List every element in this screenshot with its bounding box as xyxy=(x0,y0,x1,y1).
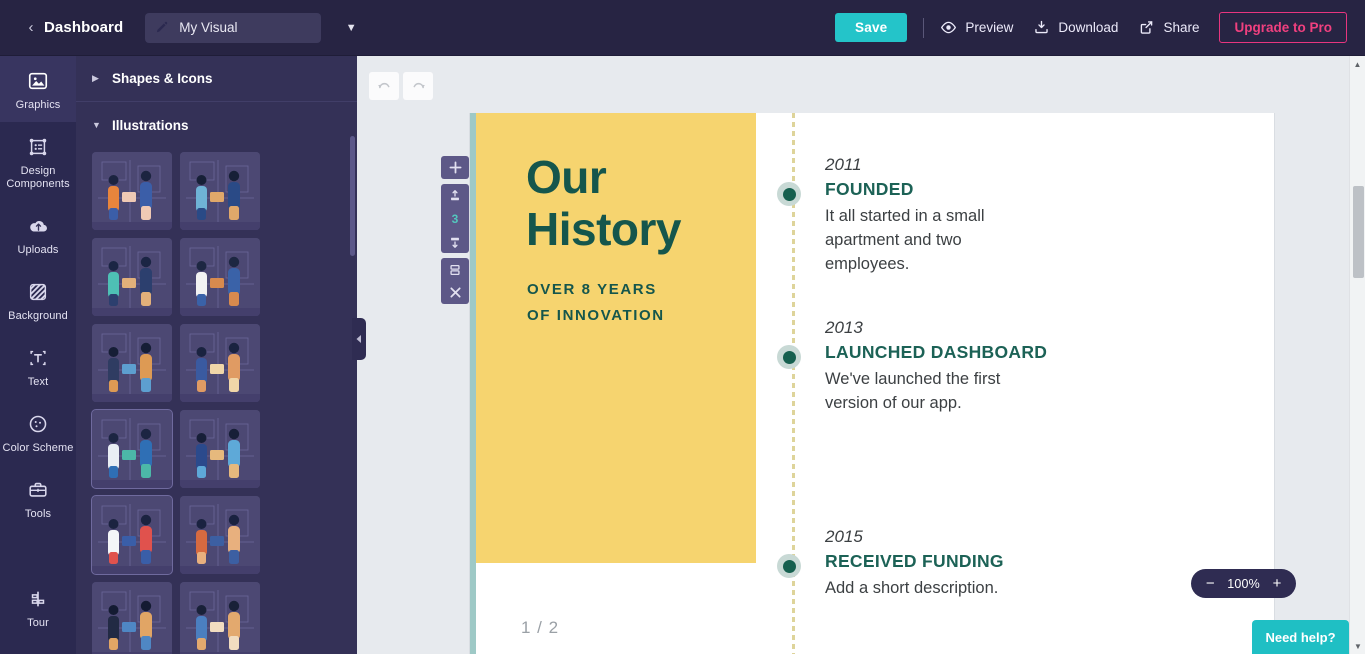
panel-collapse-button[interactable] xyxy=(352,318,366,360)
share-icon xyxy=(1138,19,1155,36)
panel-section-shapes-icons[interactable]: ▶ Shapes & Icons xyxy=(76,56,357,102)
sidebar-item-label: Uploads xyxy=(2,244,74,257)
timeline-dot-icon xyxy=(777,182,801,206)
share-label: Share xyxy=(1163,20,1199,35)
sidebar-item-label: Background xyxy=(2,310,74,323)
page-indicator: 1 / 2 xyxy=(521,618,559,638)
tour-icon xyxy=(2,586,74,612)
design-canvas[interactable]: Our History OVER 8 YEARS OF INNOVATION 1… xyxy=(470,113,1274,654)
panel-section-label: Shapes & Icons xyxy=(112,71,213,86)
page-scrollbar[interactable]: ▲ ▼ xyxy=(1349,56,1365,654)
download-button[interactable]: Download xyxy=(1033,19,1118,36)
timeline-heading: LAUNCHED DASHBOARD xyxy=(825,340,1245,365)
top-bar: ‹ Dashboard My Visual ▼ Save Preview xyxy=(0,0,1365,56)
sidebar-item-label: Graphics xyxy=(2,99,74,112)
sidebar-item-label: Design Components xyxy=(2,165,74,191)
sidebar-item-label: Color Scheme xyxy=(2,442,74,455)
hero-subtitle[interactable]: OVER 8 YEARS OF INNOVATION xyxy=(527,277,747,329)
preview-button[interactable]: Preview xyxy=(940,19,1013,36)
caret-down-icon[interactable]: ▼ xyxy=(1350,638,1365,654)
timeline-description: It all started in a small apartment and … xyxy=(825,204,1030,276)
timeline-event[interactable]: 2015RECEIVED FUNDINGAdd a short descript… xyxy=(825,525,1245,600)
asset-panel: ▶ Shapes & Icons ▼ Illustrations xyxy=(76,56,357,654)
hero-panel[interactable]: Our History OVER 8 YEARS OF INNOVATION xyxy=(476,113,756,563)
color-palette-icon xyxy=(2,411,74,437)
toolbar-divider xyxy=(923,18,924,38)
design-title-value: My Visual xyxy=(179,20,237,35)
sidebar-item-graphics[interactable]: Graphics xyxy=(0,56,76,122)
background-pattern-icon xyxy=(2,279,74,305)
text-box-icon xyxy=(2,345,74,371)
layer-count-display: 3 xyxy=(441,207,469,230)
left-rail: Graphics Design Components xyxy=(0,56,76,654)
illustration-thumbnail[interactable] xyxy=(92,410,172,488)
zoom-out-button[interactable]: − xyxy=(1203,575,1217,592)
illustration-thumbnail[interactable] xyxy=(180,324,260,402)
upload-cloud-icon xyxy=(2,213,74,239)
hero-title[interactable]: Our History xyxy=(526,151,756,255)
zoom-in-button[interactable]: + xyxy=(1270,575,1284,592)
sidebar-item-text[interactable]: Text xyxy=(0,333,76,399)
save-button[interactable]: Save xyxy=(835,13,907,42)
redo-button[interactable] xyxy=(403,72,433,100)
move-up-icon xyxy=(448,189,462,203)
illustration-thumbnail[interactable] xyxy=(180,582,260,654)
pencil-icon xyxy=(155,21,169,35)
triangle-right-icon: ▶ xyxy=(92,73,106,84)
timeline-heading: FOUNDED xyxy=(825,177,1245,202)
sidebar-item-tour[interactable]: Tour xyxy=(0,574,76,640)
move-down-button[interactable] xyxy=(441,230,469,253)
redo-icon xyxy=(411,80,426,93)
sidebar-item-label: Tour xyxy=(2,617,74,630)
timeline-description: We've launched the first version of our … xyxy=(825,367,1055,415)
undo-icon xyxy=(377,80,392,93)
add-page-button[interactable] xyxy=(441,156,469,179)
zoom-control: − 100% + xyxy=(1191,569,1296,598)
timeline-dot-icon xyxy=(777,554,801,578)
hero-subtitle-line1: OVER 8 YEARS xyxy=(527,277,747,303)
illustration-thumbnail[interactable] xyxy=(180,238,260,316)
panel-section-label: Illustrations xyxy=(112,118,189,133)
close-x-icon xyxy=(449,286,462,299)
move-down-icon xyxy=(448,235,462,249)
sidebar-item-color-scheme[interactable]: Color Scheme xyxy=(0,399,76,465)
timeline-event[interactable]: 2013LAUNCHED DASHBOARDWe've launched the… xyxy=(825,316,1245,415)
editor-canvas-area: 3 xyxy=(357,56,1365,654)
need-help-button[interactable]: Need help? xyxy=(1252,620,1349,654)
move-up-button[interactable] xyxy=(441,184,469,207)
timeline-description: Add a short description. xyxy=(825,576,1245,600)
illustration-grid xyxy=(76,148,357,654)
preview-label: Preview xyxy=(965,20,1013,35)
design-title-input[interactable]: My Visual xyxy=(145,13,321,43)
illustration-thumbnail[interactable] xyxy=(92,582,172,654)
components-icon xyxy=(2,134,74,160)
sidebar-item-background[interactable]: Background xyxy=(0,267,76,333)
image-icon xyxy=(2,68,74,94)
triangle-down-icon: ▼ xyxy=(92,120,106,130)
object-toolbar-group-2: 3 xyxy=(441,184,469,253)
top-bar-actions: Save Preview Download xyxy=(835,12,1365,43)
zoom-level-value: 100% xyxy=(1227,577,1260,591)
toolbox-icon xyxy=(2,477,74,503)
plus-icon xyxy=(449,161,462,174)
object-toolbar-group-1 xyxy=(441,156,469,179)
back-chevron-icon[interactable]: ‹ xyxy=(20,19,42,36)
illustration-thumbnail[interactable] xyxy=(180,152,260,230)
timeline-year: 2013 xyxy=(825,316,1245,340)
object-toolbar-group-3 xyxy=(441,258,469,304)
timeline-dot-icon xyxy=(777,345,801,369)
panel-section-illustrations[interactable]: ▼ Illustrations xyxy=(76,102,357,148)
illustration-thumbnail[interactable] xyxy=(92,238,172,316)
timeline-year: 2011 xyxy=(825,153,1245,177)
dashboard-link[interactable]: Dashboard xyxy=(44,19,123,36)
illustration-thumbnail[interactable] xyxy=(180,496,260,574)
sidebar-item-label: Tools xyxy=(2,508,74,521)
duplicate-button[interactable] xyxy=(441,258,469,281)
panel-scrollbar[interactable] xyxy=(350,136,355,256)
eye-icon xyxy=(940,19,957,36)
timeline-heading: RECEIVED FUNDING xyxy=(825,549,1245,574)
sidebar-item-tools[interactable]: Tools xyxy=(0,465,76,531)
object-toolbar: 3 xyxy=(441,156,469,309)
upgrade-to-pro-button[interactable]: Upgrade to Pro xyxy=(1219,12,1347,43)
share-button[interactable]: Share xyxy=(1138,19,1199,36)
chevron-down-icon[interactable]: ▼ xyxy=(343,22,359,34)
sidebar-item-design-components[interactable]: Design Components xyxy=(0,122,76,201)
sidebar-item-uploads[interactable]: Uploads xyxy=(0,201,76,267)
hero-subtitle-line2: OF INNOVATION xyxy=(527,303,747,329)
undo-button[interactable] xyxy=(369,72,399,100)
triangle-left-icon xyxy=(355,334,363,344)
illustration-thumbnail[interactable] xyxy=(180,410,260,488)
download-label: Download xyxy=(1058,20,1118,35)
editor-app: ‹ Dashboard My Visual ▼ Save Preview xyxy=(0,0,1365,654)
hero-title-line1: Our xyxy=(526,151,756,203)
delete-button[interactable] xyxy=(441,281,469,304)
history-toolbar xyxy=(369,72,437,100)
timeline-year: 2015 xyxy=(825,525,1245,549)
illustration-thumbnail[interactable] xyxy=(92,152,172,230)
layer-count-value: 3 xyxy=(452,212,459,226)
timeline-event[interactable]: 2011FOUNDEDIt all started in a small apa… xyxy=(825,153,1245,276)
hero-title-line2: History xyxy=(526,203,756,255)
download-icon xyxy=(1033,19,1050,36)
sidebar-item-label: Text xyxy=(2,376,74,389)
caret-up-icon[interactable]: ▲ xyxy=(1350,56,1365,72)
illustration-thumbnail[interactable] xyxy=(92,496,172,574)
scrollbar-thumb[interactable] xyxy=(1353,186,1364,278)
illustration-thumbnail[interactable] xyxy=(92,324,172,402)
duplicate-icon xyxy=(448,263,462,277)
